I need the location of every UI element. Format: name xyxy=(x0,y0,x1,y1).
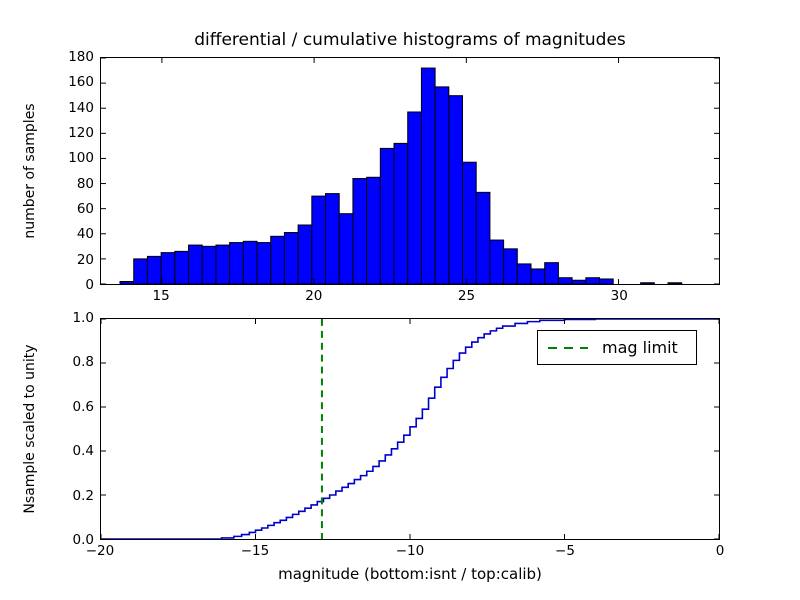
histogram-bar xyxy=(558,278,572,284)
histogram-bar xyxy=(353,179,367,284)
y-tick-label: 100 xyxy=(68,150,94,166)
histogram-bar xyxy=(641,283,655,284)
figure-xlabel: magnitude (bottom:isnt / top:calib) xyxy=(100,565,720,583)
x-tick-label: 30 xyxy=(611,288,628,304)
histogram-bar xyxy=(120,281,134,284)
histogram-bar xyxy=(600,279,614,284)
histogram-bar xyxy=(394,143,408,284)
histogram-bar xyxy=(490,240,504,284)
x-tick-label: 20 xyxy=(305,288,322,304)
histogram-bar xyxy=(202,246,216,284)
histogram-bar xyxy=(326,194,340,284)
y-tick-label: 0.6 xyxy=(73,399,94,415)
y-tick-label: 20 xyxy=(77,252,94,268)
histogram-bar xyxy=(545,263,559,284)
y-tick-label: 0.4 xyxy=(73,443,94,459)
legend: mag limit xyxy=(537,330,697,365)
bottom-panel-ytick-labels: 0.00.20.40.60.81.0 xyxy=(0,318,94,540)
y-tick-label: 160 xyxy=(68,74,94,90)
figure-title: differential / cumulative histograms of … xyxy=(100,30,720,50)
histogram-bar xyxy=(408,112,422,284)
histogram-bar xyxy=(586,278,600,284)
histogram-bar xyxy=(463,162,477,284)
histogram-bar xyxy=(243,241,257,284)
histogram-bar xyxy=(339,214,353,284)
y-tick-label: 140 xyxy=(68,100,94,116)
histogram-bar xyxy=(298,225,312,284)
y-tick-label: 120 xyxy=(68,125,94,141)
histogram-bar xyxy=(161,253,175,284)
histogram-bar xyxy=(367,177,381,284)
histogram-bar xyxy=(312,196,326,284)
top-panel-xtick-labels: 15202530 xyxy=(0,288,800,312)
histogram-bar xyxy=(421,68,435,284)
x-tick-label: 15 xyxy=(152,288,169,304)
differential-histogram-axes xyxy=(100,57,720,285)
x-tick-label: −20 xyxy=(86,543,115,559)
histogram-bar xyxy=(175,251,189,284)
x-tick-label: 25 xyxy=(458,288,475,304)
histogram-bar xyxy=(504,249,518,284)
y-tick-label: 1.0 xyxy=(73,310,94,326)
differential-histogram-plot xyxy=(101,58,719,284)
histogram-bar xyxy=(284,233,298,284)
y-tick-label: 40 xyxy=(77,226,94,242)
x-tick-label: 0 xyxy=(716,543,725,559)
histogram-bar xyxy=(271,236,285,284)
y-tick-label: 0.8 xyxy=(73,354,94,370)
x-tick-label: −10 xyxy=(396,543,425,559)
cumulative-histogram-axes: mag limit xyxy=(100,318,720,540)
bottom-panel-xtick-labels: −20−15−10−50 xyxy=(0,543,800,567)
mag-limit-legend-icon xyxy=(548,347,588,349)
y-tick-label: 0.2 xyxy=(73,488,94,504)
histogram-bar xyxy=(476,192,490,284)
x-tick-label: −5 xyxy=(555,543,575,559)
histogram-bar xyxy=(572,280,586,284)
matplotlib-figure: differential / cumulative histograms of … xyxy=(0,0,800,600)
histogram-bar xyxy=(216,245,230,284)
top-panel-ytick-labels: 020406080100120140160180 xyxy=(0,57,94,285)
histogram-bar xyxy=(668,283,682,284)
histogram-bar xyxy=(189,245,203,284)
histogram-bar xyxy=(380,148,394,284)
histogram-bar xyxy=(257,243,271,284)
y-tick-label: 80 xyxy=(77,176,94,192)
histogram-bar xyxy=(435,87,449,284)
histogram-bar xyxy=(230,243,244,284)
y-tick-label: 180 xyxy=(68,49,94,65)
histogram-bar xyxy=(134,259,148,284)
histogram-bar xyxy=(517,264,531,284)
legend-item-label: mag limit xyxy=(602,338,684,357)
histogram-bar xyxy=(147,256,161,284)
histogram-bar xyxy=(449,96,463,284)
histogram-bar xyxy=(531,269,545,284)
x-tick-label: −15 xyxy=(241,543,270,559)
y-tick-label: 60 xyxy=(77,201,94,217)
